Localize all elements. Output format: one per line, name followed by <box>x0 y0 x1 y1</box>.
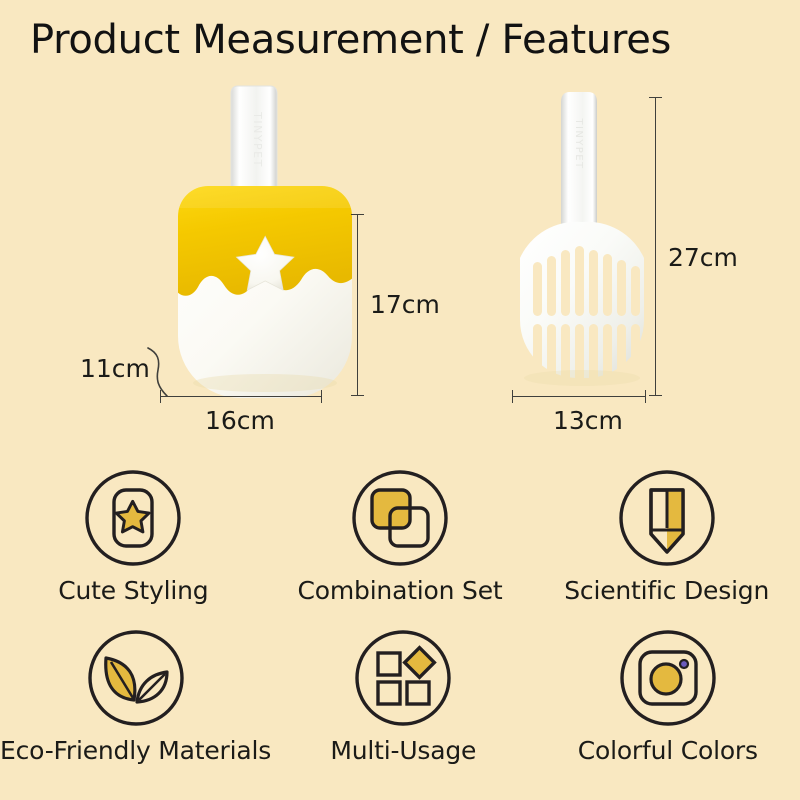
dimension-label-27cm: 27cm <box>668 243 738 272</box>
feature-label: Cute Styling <box>58 576 208 605</box>
pencil-icon <box>615 466 719 570</box>
feature-label: Combination Set <box>298 576 503 605</box>
product-infographic: Product Measurement / Features <box>0 0 800 800</box>
product-star-bucket-holder: TINYPET <box>150 78 380 408</box>
dimension-line-width-16cm <box>160 396 322 397</box>
feature-colorful-colors: Colorful Colors <box>536 626 800 786</box>
dimension-label-13cm: 13cm <box>553 406 623 435</box>
dimension-label-17cm: 17cm <box>370 290 440 319</box>
star-in-frame-icon <box>81 466 185 570</box>
product-measurement-stage: TINYPET 17cm 16cm 11cm <box>0 78 800 448</box>
dimension-label-16cm: 16cm <box>205 406 275 435</box>
feature-eco-friendly-materials: Eco-Friendly Materials <box>0 626 271 786</box>
feature-combination-set: Combination Set <box>267 466 534 626</box>
page-title: Product Measurement / Features <box>30 17 671 63</box>
dimension-line-height-17cm <box>357 214 358 396</box>
camera-icon <box>616 626 720 730</box>
bucket-brand-text: TINYPET <box>251 111 264 168</box>
overlapping-squares-icon <box>348 466 452 570</box>
leaves-icon <box>84 626 188 730</box>
dimension-line-height-27cm <box>655 97 656 396</box>
feature-cute-styling: Cute Styling <box>0 466 267 626</box>
product-litter-scoop: TINYPET <box>500 86 665 406</box>
scoop-shadow <box>524 370 640 386</box>
feature-label: Multi-Usage <box>330 736 476 765</box>
feature-scientific-design: Scientific Design <box>533 466 800 626</box>
squares-diamond-icon <box>351 626 455 730</box>
scoop-brand-text: TINYPET <box>573 118 584 170</box>
feature-label: Scientific Design <box>564 576 769 605</box>
features-grid: Cute Styling Combination Set <box>0 466 800 800</box>
feature-multi-usage: Multi-Usage <box>271 626 535 786</box>
dimension-label-11cm: 11cm <box>80 354 150 383</box>
bucket-shadow <box>193 374 337 392</box>
dimension-line-width-13cm <box>512 396 646 397</box>
features-row-1: Cute Styling Combination Set <box>0 466 800 626</box>
feature-label: Eco-Friendly Materials <box>0 736 271 765</box>
scoop-handle: TINYPET <box>561 92 597 230</box>
bucket-strap: TINYPET <box>231 86 277 198</box>
feature-label: Colorful Colors <box>578 736 758 765</box>
features-row-2: Eco-Friendly Materials Multi-Usage <box>0 626 800 786</box>
